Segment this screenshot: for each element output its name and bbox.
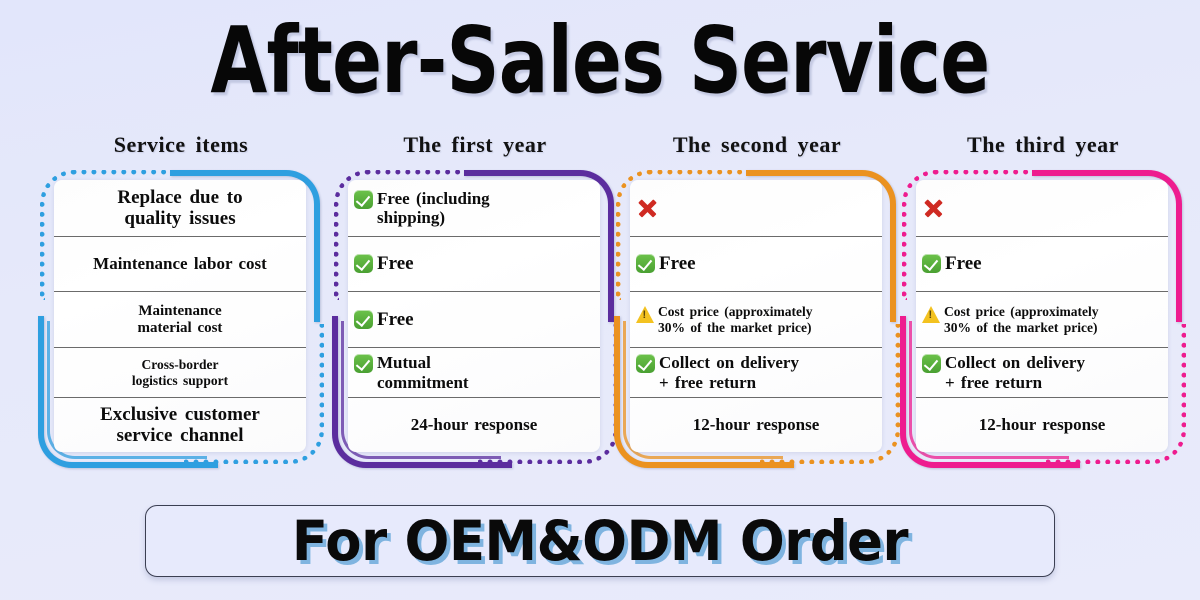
cross-icon	[922, 197, 944, 219]
row-text: 12-hour response	[693, 415, 820, 434]
column-header: The first year	[330, 128, 620, 162]
row-text-line: + free return	[945, 373, 1085, 392]
row-text-line: 12-hour response	[979, 415, 1106, 434]
column-header: The second year	[612, 128, 902, 162]
column-header: Service items	[36, 128, 326, 162]
check-icon	[354, 354, 373, 373]
row-text-line: Free	[945, 253, 982, 274]
service-card: FreeCost price (approximately30% of the …	[916, 180, 1168, 452]
row-text-line: + free return	[659, 373, 799, 392]
row-text-line: Exclusive customer	[100, 404, 260, 425]
row-text-line: Free	[659, 253, 696, 274]
row-text-line: service channel	[100, 425, 260, 446]
row-text: Free	[659, 253, 696, 274]
row-text-line: Cost price (approximately	[658, 304, 812, 319]
row-text-line: Free	[377, 309, 414, 330]
row-text: Collect on delivery+ free return	[659, 353, 799, 391]
row-text-line: 12-hour response	[693, 415, 820, 434]
row-text-line: 30% of the market price)	[944, 320, 1098, 335]
card-frame: Replace due toquality issuesMaintenance …	[36, 162, 326, 470]
row-text-line: Cross-border	[132, 357, 228, 372]
column-2: The second yearFreeCost price (approxima…	[612, 128, 902, 473]
row-text-line: Collect on delivery	[659, 353, 799, 372]
table-row: Free	[348, 237, 600, 292]
row-text: Collect on delivery+ free return	[945, 353, 1085, 391]
oem-odm-banner[interactable]: For OEM&ODM Order	[145, 505, 1055, 577]
table-row: 12-hour response	[916, 398, 1168, 452]
check-icon	[922, 254, 941, 273]
table-row: Maintenance labor cost	[54, 237, 306, 292]
row-text-line: logistics support	[132, 373, 228, 388]
row-text: Free	[377, 309, 414, 330]
check-icon	[354, 310, 373, 329]
card-frame: FreeCost price (approximately30% of the …	[898, 162, 1188, 470]
card-frame: Free (includingshipping)FreeFreeMutualco…	[330, 162, 620, 470]
row-text: 12-hour response	[979, 415, 1106, 434]
row-text-line: Cost price (approximately	[944, 304, 1098, 319]
row-text-line: 30% of the market price)	[658, 320, 812, 335]
column-0: Service itemsReplace due toquality issue…	[36, 128, 326, 473]
table-row: Free	[916, 237, 1168, 292]
card-frame: FreeCost price (approximately30% of the …	[612, 162, 902, 470]
row-text: Cost price (approximately30% of the mark…	[658, 304, 812, 334]
row-text: Free (includingshipping)	[377, 189, 490, 227]
table-row: Collect on delivery+ free return	[916, 348, 1168, 398]
row-text-line: material cost	[138, 320, 223, 337]
warning-icon	[636, 306, 654, 323]
service-card: FreeCost price (approximately30% of the …	[630, 180, 882, 452]
row-text: Free	[945, 253, 982, 274]
row-text-line: quality issues	[117, 208, 242, 229]
column-header: The third year	[898, 128, 1188, 162]
warning-icon	[922, 306, 940, 323]
row-text: Cross-borderlogistics support	[132, 357, 228, 387]
check-icon	[922, 354, 941, 373]
row-text: Maintenancematerial cost	[138, 303, 223, 337]
row-text: 24-hour response	[411, 415, 538, 434]
row-text-line: Maintenance labor cost	[93, 254, 267, 273]
table-row: Collect on delivery+ free return	[630, 348, 882, 398]
table-row: 24-hour response	[348, 398, 600, 452]
table-row: Mutualcommitment	[348, 348, 600, 398]
table-row: Cost price (approximately30% of the mark…	[630, 292, 882, 348]
check-icon	[354, 190, 373, 209]
table-row: Replace due toquality issues	[54, 180, 306, 237]
row-text: Mutualcommitment	[377, 353, 469, 391]
check-icon	[636, 354, 655, 373]
table-row: Free	[630, 237, 882, 292]
table-row: Cost price (approximately30% of the mark…	[916, 292, 1168, 348]
table-row	[916, 180, 1168, 237]
comparison-table: Service itemsReplace due toquality issue…	[0, 128, 1200, 473]
row-text: Exclusive customerservice channel	[100, 404, 260, 447]
column-1: The first yearFree (includingshipping)Fr…	[330, 128, 620, 473]
table-row	[630, 180, 882, 237]
table-row: Maintenancematerial cost	[54, 292, 306, 348]
row-text: Replace due toquality issues	[117, 187, 242, 230]
row-text: Free	[377, 253, 414, 274]
row-text-line: 24-hour response	[411, 415, 538, 434]
cross-icon	[636, 197, 658, 219]
banner-label: For OEM&ODM Order	[292, 514, 908, 569]
row-text-line: Free (including	[377, 189, 490, 208]
check-icon	[354, 254, 373, 273]
row-text-line: Mutual	[377, 353, 469, 372]
table-row: 12-hour response	[630, 398, 882, 452]
page-title: After-Sales Service	[211, 15, 990, 107]
table-row: Cross-borderlogistics support	[54, 348, 306, 398]
title-bar: After-Sales Service	[0, 6, 1200, 116]
row-text-line: Maintenance	[138, 303, 223, 320]
row-text-line: commitment	[377, 373, 469, 392]
row-text-line: Replace due to	[117, 187, 242, 208]
column-3: The third yearFreeCost price (approximat…	[898, 128, 1188, 473]
check-icon	[636, 254, 655, 273]
row-text-line: Free	[377, 253, 414, 274]
row-text-line: Collect on delivery	[945, 353, 1085, 372]
service-card: Replace due toquality issuesMaintenance …	[54, 180, 306, 452]
row-text: Maintenance labor cost	[93, 254, 267, 273]
table-row: Free	[348, 292, 600, 348]
table-row: Exclusive customerservice channel	[54, 398, 306, 452]
row-text-line: shipping)	[377, 208, 490, 227]
table-row: Free (includingshipping)	[348, 180, 600, 237]
service-card: Free (includingshipping)FreeFreeMutualco…	[348, 180, 600, 452]
row-text: Cost price (approximately30% of the mark…	[944, 304, 1098, 334]
